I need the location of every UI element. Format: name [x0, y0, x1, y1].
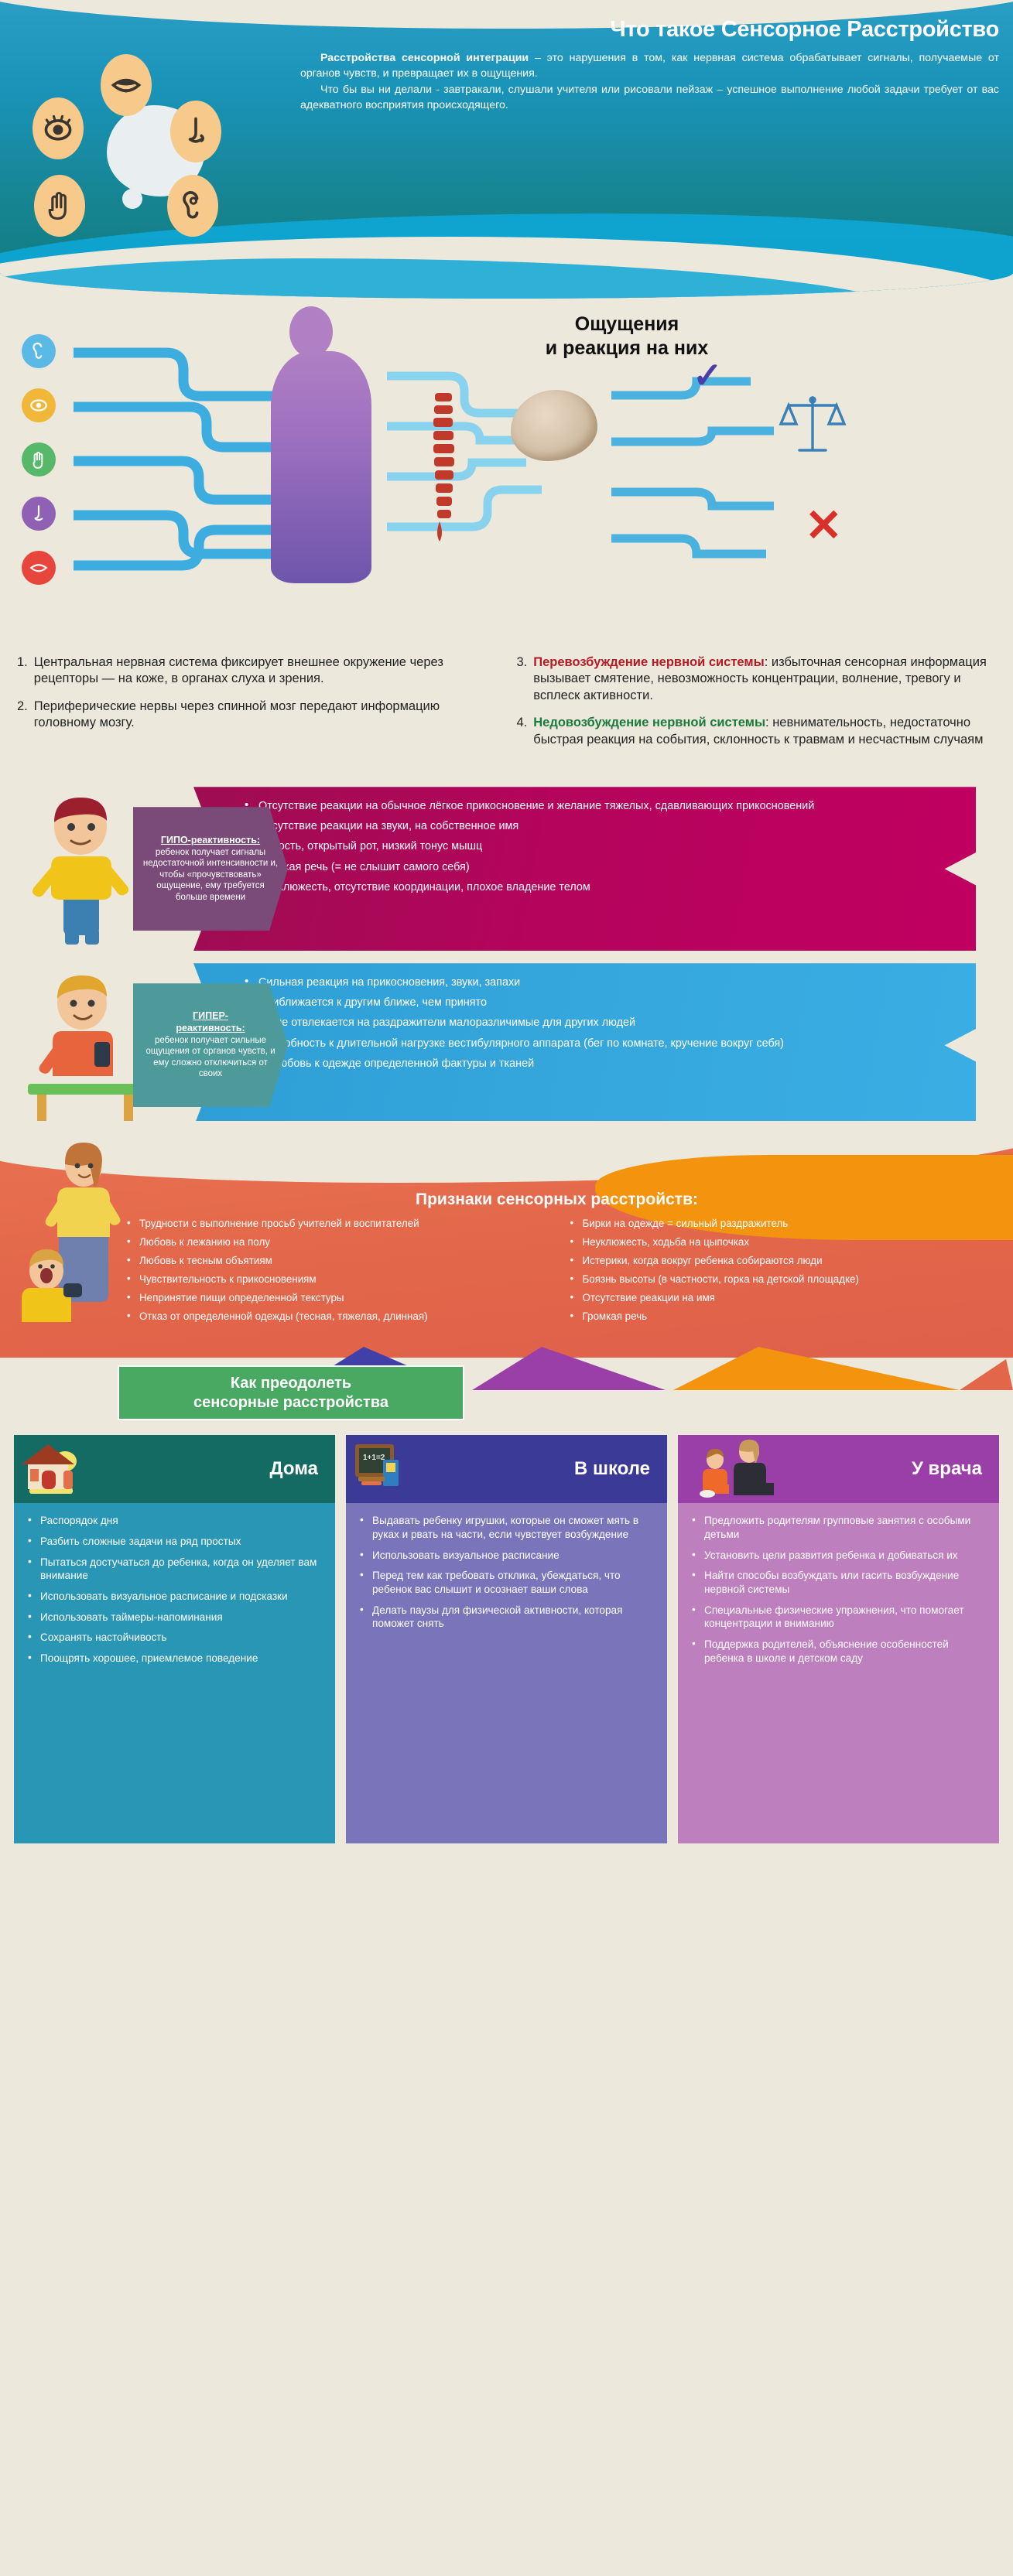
list-item: Любовь к тесным объятиям — [124, 1254, 547, 1267]
checkmark-icon: ✓ — [693, 354, 723, 396]
card-doctor-list: Предложить родителям групповые занятия с… — [690, 1514, 987, 1665]
hypo-label-tag: ГИПО-реактивность: ребенок получает сигн… — [133, 807, 288, 931]
card-home-body: Распорядок дня Разбить сложные задачи на… — [14, 1503, 335, 1843]
list-item: Распорядок дня — [26, 1514, 323, 1528]
list-item: Выдавать ребенку игрушки, которые он смо… — [358, 1514, 655, 1541]
card-school-title: В школе — [574, 1458, 650, 1480]
hand-icon — [22, 442, 56, 477]
list-item: 4. Недовозбуждение нервной системы: невн… — [517, 715, 1000, 748]
overcome-line-1: Как преодолеть — [124, 1374, 458, 1392]
list-item: Делать паузы для физической активности, … — [358, 1604, 655, 1631]
list-item: Трудности с выполнение просьб учителей и… — [124, 1217, 547, 1230]
hypo-symptoms-panel: Отсутствие реакции на обычное лёгкое при… — [193, 787, 976, 951]
hyper-symptoms-list: Сильная реакция на прикосновения, звуки,… — [243, 975, 945, 1071]
svg-text:1+1=2: 1+1=2 — [363, 1454, 385, 1462]
list-item: Истерики, когда вокруг ребенка собираютс… — [567, 1254, 991, 1267]
card-doctor-header: У врача — [678, 1435, 999, 1503]
list-item: Отсутствие реакции на имя — [567, 1291, 991, 1304]
card-home-title: Дома — [269, 1458, 318, 1480]
hypo-tag-body: ребенок получает сигналы недостаточной и… — [143, 848, 278, 902]
mouth-icon — [101, 54, 152, 116]
eye-icon — [22, 388, 56, 422]
list-label: Недовозбуждение нервной системы — [533, 716, 765, 729]
list-item: Поддержка родителей, объяснение особенно… — [690, 1638, 987, 1665]
list-item: Любовь к лежанию на полу — [124, 1235, 547, 1249]
header-lead-bold: Расстройства сенсорной интеграции — [320, 52, 529, 64]
hyper-tag-body: ребенок получает сильные ощущения от орг… — [145, 1036, 275, 1078]
list-item: 1. Центральная нервная система фиксирует… — [17, 654, 500, 688]
ear-icon — [22, 334, 56, 368]
list-item: Чувствительность к прикосновениям — [124, 1273, 547, 1286]
ear-icon — [167, 175, 218, 237]
solution-cards: Дома Распорядок дня Разбить сложные зада… — [0, 1423, 1013, 1862]
numbered-list-right: 3. Перевозбуждение нервной системы: избы… — [517, 654, 1000, 759]
list-item: Установить цели развития ребенка и добив… — [690, 1549, 987, 1563]
card-school[interactable]: 1+1=2 В школе Выдавать ребенку игрушки, … — [346, 1435, 667, 1843]
overcome-line-2: сенсорные расстройства — [124, 1393, 458, 1412]
list-text: Периферические нервы через спинной мозг … — [34, 699, 500, 732]
list-item: 2. Периферические нервы через спинной мо… — [17, 699, 500, 732]
list-item: Пытаться достучаться до ребенка, когда о… — [26, 1556, 323, 1583]
list-item: Найти способы возбуждать или гасить возб… — [690, 1569, 987, 1596]
list-item: Способность к длительной нагрузке вестиб… — [243, 1037, 945, 1051]
hypo-tag-heading: ГИПО-реактивность: — [161, 835, 260, 846]
hypo-symptoms-list: Отсутствие реакции на обычное лёгкое при… — [243, 799, 945, 894]
list-item: Нелюбовь к одежде определенной фактуры и… — [243, 1057, 945, 1071]
hyper-reactivity-band: Сильная реакция на прикосновения, звуки,… — [0, 963, 1013, 1127]
list-item: Предложить родителям групповые занятия с… — [690, 1514, 987, 1541]
hypo-reactivity-band: Отсутствие реакции на обычное лёгкое при… — [0, 787, 1013, 951]
receptor-icons — [22, 330, 71, 577]
numbered-lists: 1. Центральная нервная система фиксирует… — [0, 654, 1013, 774]
hyper-label-tag: ГИПЕР- реактивность: ребенок получает си… — [133, 983, 288, 1107]
eye-icon — [33, 97, 84, 159]
signs-section: Признаки сенсорных расстройств: Трудност… — [0, 1147, 1013, 1358]
silhouette-head — [289, 306, 333, 357]
list-text: Перевозбуждение нервной системы: избыточ… — [533, 654, 999, 704]
list-item: Использовать визуальное расписание — [358, 1549, 655, 1563]
header-section: Что такое Сенсорное Расстройство Расстро… — [0, 0, 1013, 299]
card-school-header: 1+1=2 В школе — [346, 1435, 667, 1503]
card-school-body: Выдавать ребенку игрушки, которые он смо… — [346, 1503, 667, 1843]
overcome-banner: Как преодолеть сенсорные расстройства — [118, 1365, 464, 1420]
overcome-banner-wrap: Как преодолеть сенсорные расстройства — [0, 1356, 1013, 1423]
sense-icon-cluster — [15, 37, 294, 261]
scales-icon — [778, 390, 847, 460]
list-item: Сильная реакция на прикосновения, звуки,… — [243, 975, 945, 989]
hyper-symptoms-panel: Сильная реакция на прикосновения, звуки,… — [193, 963, 976, 1127]
list-item: Перед тем как требовать отклика, убеждат… — [358, 1569, 655, 1596]
list-item: Отсутствие реакции на звуки, на собствен… — [243, 819, 945, 833]
list-item: Громкая речь (= не слышит самого себя) — [243, 860, 945, 874]
card-home[interactable]: Дома Распорядок дня Разбить сложные зада… — [14, 1435, 335, 1843]
nose-icon — [170, 101, 221, 162]
list-item: Использовать таймеры-напоминания — [26, 1611, 323, 1625]
list-item: Поощрять хорошее, приемлемое поведение — [26, 1652, 323, 1666]
red-cross-icon: ✕ — [805, 504, 843, 548]
therapist-icon — [684, 1440, 785, 1498]
blackboard-icon: 1+1=2 — [352, 1440, 412, 1498]
list-number: 2. — [17, 699, 28, 732]
header-text-block: Что такое Сенсорное Расстройство Расстро… — [300, 17, 999, 114]
list-item: Легче отвлекается на раздражители малора… — [243, 1016, 945, 1030]
list-item: Использовать визуальное расписание и под… — [26, 1590, 323, 1604]
hand-icon — [34, 175, 85, 237]
list-item: Специальные физические упражнения, что п… — [690, 1604, 987, 1631]
list-number: 4. — [517, 715, 528, 748]
header-paragraphs: Расстройства сенсорной интеграции – это … — [300, 50, 999, 114]
mouth-icon — [22, 551, 56, 585]
list-item: Бирки на одежде = сильный раздражитель — [567, 1217, 991, 1230]
list-item: Разбить сложные задачи на ряд простых — [26, 1535, 323, 1549]
card-school-list: Выдавать ребенку игрушки, которые он смо… — [358, 1514, 655, 1631]
list-item: Боязнь высоты (в частности, горка на дет… — [567, 1273, 991, 1286]
nerve-pathways — [0, 299, 1013, 654]
list-text: Недовозбуждение нервной системы: невнима… — [533, 715, 999, 748]
card-home-header: Дома — [14, 1435, 335, 1503]
card-doctor-title: У врача — [912, 1458, 982, 1480]
list-item: Вялость, открытый рот, низкий тонус мышц — [243, 839, 945, 853]
list-label: Перевозбуждение нервной системы — [533, 655, 764, 669]
list-item: Отказ от определенной одежды (тесная, тя… — [124, 1310, 547, 1323]
list-number: 1. — [17, 654, 28, 688]
signs-list-left: Трудности с выполнение просьб учителей и… — [23, 1217, 547, 1328]
card-home-list: Распорядок дня Разбить сложные задачи на… — [26, 1514, 323, 1665]
sensation-diagram: Ощущения и реакция на них — [0, 299, 1013, 654]
list-item: Неуклюжесть, ходьба на цыпочках — [567, 1235, 991, 1249]
list-item: Громкая речь — [567, 1310, 991, 1323]
list-item: Сохранять настойчивость — [26, 1631, 323, 1645]
spine-icon — [424, 390, 463, 545]
header-para-2: Что бы вы ни делали - завтракали, слушал… — [300, 84, 999, 111]
list-item: Отсутствие реакции на обычное лёгкое при… — [243, 799, 945, 813]
card-doctor[interactable]: У врача Предложить родителям групповые з… — [678, 1435, 999, 1843]
signs-title: Признаки сенсорных расстройств: — [23, 1191, 990, 1209]
infographic-page: Что такое Сенсорное Расстройство Расстро… — [0, 0, 1013, 2576]
list-item: 3. Перевозбуждение нервной системы: избы… — [517, 654, 1000, 704]
house-icon — [20, 1440, 80, 1498]
signs-columns: Трудности с выполнение просьб учителей и… — [23, 1217, 990, 1328]
numbered-list-left: 1. Центральная нервная система фиксирует… — [17, 654, 500, 759]
hyper-tag-heading-1: ГИПЕР- — [193, 1010, 228, 1021]
list-item: Неуклюжесть, отсутствие координации, пло… — [243, 880, 945, 894]
signs-list-right: Бирки на одежде = сильный раздражитель Н… — [567, 1217, 991, 1328]
hyper-tag-heading-2: реактивность: — [176, 1023, 245, 1033]
silhouette-torso — [271, 351, 371, 583]
nose-icon — [22, 497, 56, 531]
card-doctor-body: Предложить родителям групповые занятия с… — [678, 1503, 999, 1843]
page-title: Что такое Сенсорное Расстройство — [300, 17, 999, 43]
list-item: Непринятие пищи определенной текстуры — [124, 1291, 547, 1304]
list-number: 3. — [517, 654, 528, 704]
list-item: Приближается к другим ближе, чем принято — [243, 996, 945, 1010]
list-text: Центральная нервная система фиксирует вн… — [34, 654, 500, 688]
body-silhouette — [255, 308, 387, 586]
